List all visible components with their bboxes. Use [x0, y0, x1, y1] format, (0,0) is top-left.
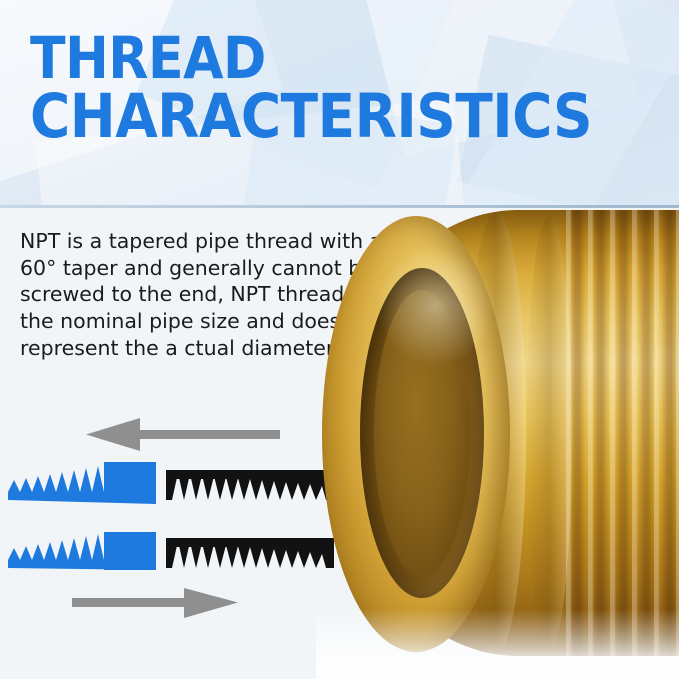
title-line-2: CHARACTERISTICS — [30, 87, 670, 147]
fitting-gloss-highlight — [376, 246, 496, 366]
male-thread-bottom — [8, 532, 156, 570]
female-thread-top — [166, 470, 334, 500]
brass-fitting-photo — [316, 186, 679, 679]
arrow-left-icon — [86, 418, 280, 451]
thread-diagram — [0, 408, 360, 638]
page-title: THREAD CHARACTERISTICS — [30, 30, 670, 148]
title-line-1: THREAD — [30, 30, 670, 87]
product-infographic: THREAD CHARACTERISTICS NPT is a tapered … — [0, 0, 679, 679]
male-thread-top — [8, 462, 156, 504]
fitting-threads-highlight — [566, 210, 679, 656]
arrow-right-icon — [72, 588, 238, 618]
female-thread-bottom — [166, 538, 334, 568]
fitting-bottom-fade — [316, 609, 679, 679]
